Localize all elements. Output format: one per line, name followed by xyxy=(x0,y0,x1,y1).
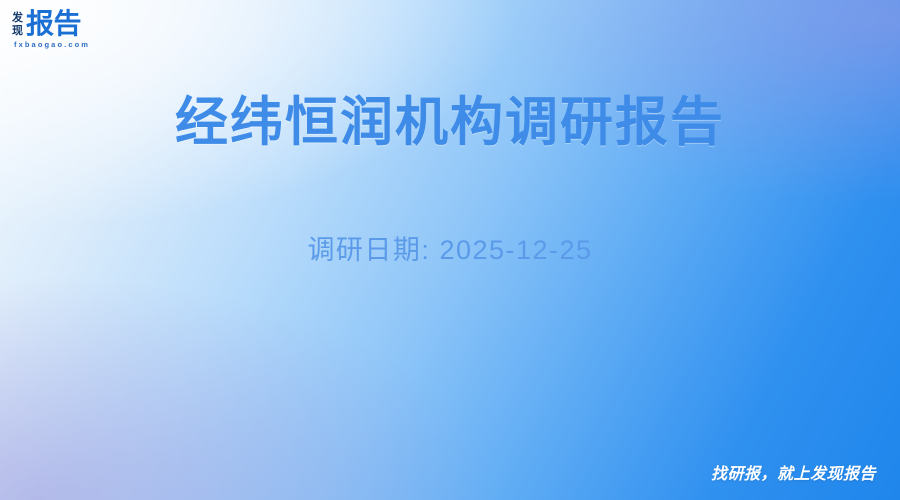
site-logo[interactable]: 发 现 报告 fxbaogao.com xyxy=(12,9,90,49)
slogan-watermark: 找研报，就上发现报告 xyxy=(711,464,876,486)
logo-url-text: fxbaogao.com xyxy=(14,40,90,49)
cover-subtitle-date: 调研日期: 2025-12-25 xyxy=(0,232,900,268)
logo-mark-char-2: 现 xyxy=(12,25,23,38)
report-cover-slide: 发 现 报告 fxbaogao.com 经纬恒润机构调研报告 调研日期: 202… xyxy=(0,0,900,500)
logo-mark-char-1: 发 xyxy=(12,12,23,25)
cover-title: 经纬恒润机构调研报告 xyxy=(0,92,900,154)
logo-wordmark-row: 发 现 报告 xyxy=(12,9,90,39)
logo-mark-stacked: 发 现 xyxy=(12,11,23,38)
logo-wordmark-text: 报告 xyxy=(26,9,81,39)
